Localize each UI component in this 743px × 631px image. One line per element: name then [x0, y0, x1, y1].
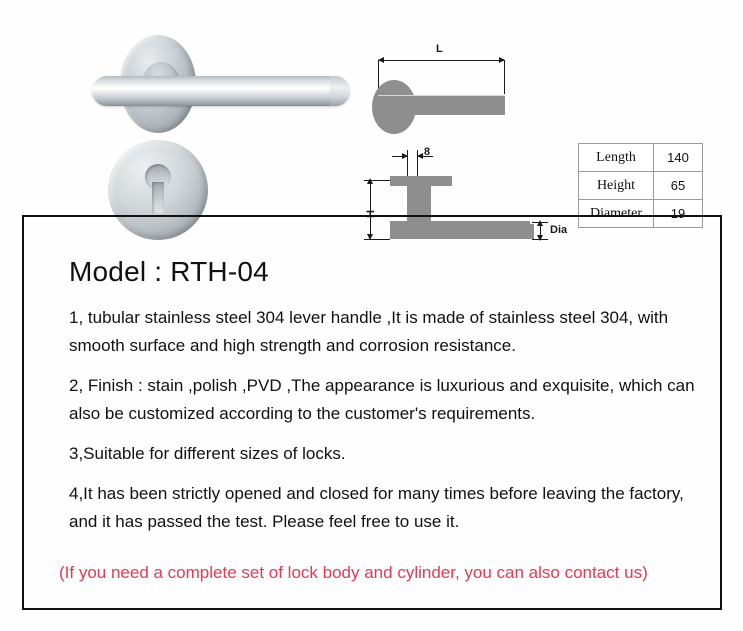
plan-lever-highlight	[378, 95, 505, 96]
product-spec-image: L 8 H Dia	[0, 0, 743, 631]
description-paragraph-4: 4,It has been strictly opened and closed…	[69, 480, 714, 536]
side-rosette-flange	[390, 176, 452, 186]
description-box: Model : RTH-04 1, tubular stainless stee…	[22, 215, 722, 610]
plan-view-drawing: L	[360, 42, 560, 147]
description-paragraph-3: 3,Suitable for different sizes of locks.	[69, 440, 714, 468]
description-content: Model : RTH-04 1, tubular stainless stee…	[69, 257, 714, 586]
spec-label-height: Height	[579, 172, 654, 200]
height-arrow-up-icon	[367, 178, 373, 184]
spec-label-length: Length	[579, 144, 654, 172]
lever-bar	[92, 76, 350, 106]
spec-value-length: 140	[654, 144, 703, 172]
length-ext-line-right	[504, 60, 505, 94]
model-title: Model : RTH-04	[69, 257, 714, 288]
spec-value-height: 65	[654, 172, 703, 200]
length-dim-label: L	[436, 44, 443, 55]
plan-lever-shape	[378, 95, 505, 115]
contact-note: (If you need a complete set of lock body…	[59, 560, 714, 586]
neck-thickness-label: 8	[424, 147, 430, 158]
neck-arrow-right-icon	[402, 153, 408, 159]
table-row: Height 65	[579, 172, 703, 200]
neck-arrow-left-icon	[417, 153, 423, 159]
table-row: Length 140	[579, 144, 703, 172]
lever-end-cap	[330, 76, 350, 106]
height-ext-line-top	[364, 180, 390, 181]
length-dim-line	[378, 60, 505, 61]
lever-handle-photo	[92, 30, 350, 140]
description-paragraph-1: 1, tubular stainless steel 304 lever han…	[69, 304, 714, 360]
keyhole-slot-icon	[152, 182, 164, 214]
description-paragraph-2: 2, Finish : stain ,polish ,PVD ,The appe…	[69, 372, 714, 428]
